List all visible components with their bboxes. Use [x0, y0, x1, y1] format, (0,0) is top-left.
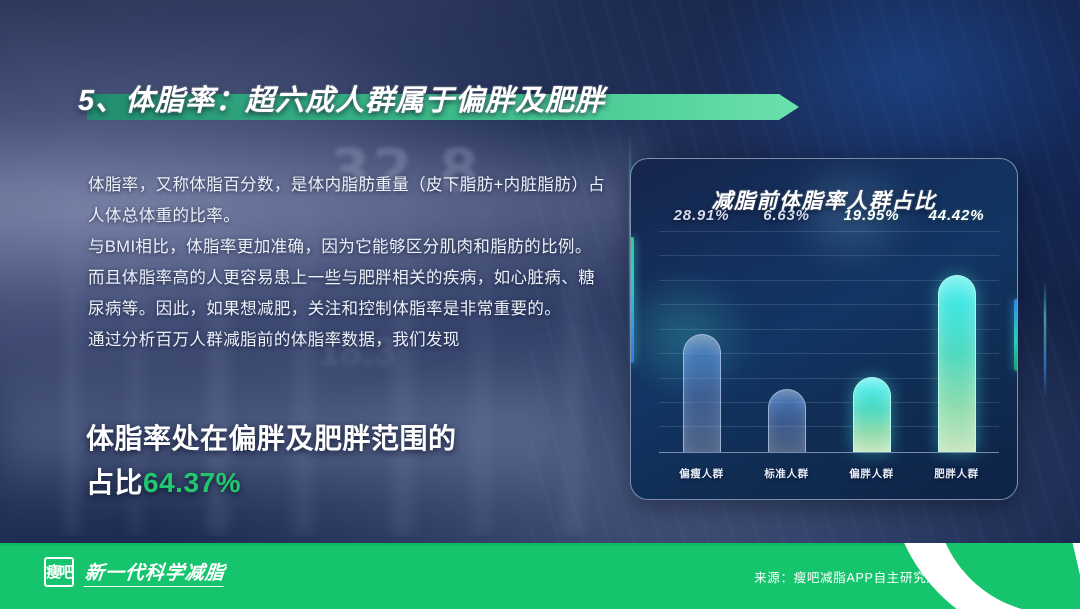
chart-card: 减脂前体脂率人群占比 28.91% 6.63% 19.95%	[630, 158, 1018, 500]
body-paragraph-1: 体脂率，又称体脂百分数，是体内脂肪重量（皮下脂肪+内脏脂肪）占人体总体重的比率。	[88, 170, 608, 232]
chart-category-3: 肥胖人群	[914, 466, 999, 481]
chart-bar-0[interactable]	[683, 334, 721, 452]
page-title: 5、体脂率：超六成人群属于偏胖及肥胖	[78, 72, 605, 124]
chart-category-labels: 偏瘦人群 标准人群 偏胖人群 肥胖人群	[659, 466, 999, 481]
headline-conclusion: 体脂率处在偏胖及肥胖范围的 占比64.37%	[86, 417, 606, 505]
title-text: 5、体脂率：超六成人群属于偏胖及肥胖	[78, 77, 605, 119]
chart-category-2: 偏胖人群	[829, 466, 914, 481]
slide-root: 32.8 18.3 FITNESS 5、体脂率：超六成人群属于偏胖及肥胖 体脂率…	[0, 0, 1080, 609]
chart-category-1: 标准人群	[744, 466, 829, 481]
footer-bar: 瘦吧 新一代科学减脂 来源：瘦吧减脂APP自主研究及绘制	[0, 543, 1080, 609]
chart-bars: 28.91% 6.63% 19.95% 44.42%	[659, 231, 999, 452]
brand-logo-icon: 瘦吧	[44, 557, 74, 587]
chart-bar-group-3: 44.42%	[914, 231, 999, 452]
chart-category-0: 偏瘦人群	[659, 466, 744, 481]
chart-bar-value-2: 19.95%	[844, 207, 900, 224]
chart-x-axis	[659, 452, 999, 453]
body-paragraph-3: 通过分析百万人群减脂前的体脂率数据，我们发现	[88, 325, 608, 356]
chart-bar-group-1: 6.63%	[744, 231, 829, 452]
footer-brand: 瘦吧 新一代科学减脂	[44, 557, 225, 587]
footer-source-text: 来源：瘦吧减脂APP自主研究及绘制	[754, 567, 966, 586]
chart-bar-value-1: 6.63%	[763, 207, 810, 224]
chart-bar-value-3: 44.42%	[929, 207, 985, 224]
chart-bar-2[interactable]	[853, 377, 891, 452]
chart-bar-group-0: 28.91%	[659, 231, 744, 452]
background-accent-line-right	[1044, 280, 1046, 400]
chart-bar-1[interactable]	[768, 389, 806, 452]
chart-accent-left	[630, 237, 634, 363]
headline-lead: 体脂率处在偏胖及肥胖范围的	[86, 423, 457, 454]
headline-value: 64.37%	[143, 467, 241, 498]
chart-accent-right	[1014, 299, 1018, 371]
chart-bar-3[interactable]	[938, 275, 976, 452]
body-copy: 体脂率，又称体脂百分数，是体内脂肪重量（皮下脂肪+内脏脂肪）占人体总体重的比率。…	[88, 170, 608, 356]
brand-slogan: 新一代科学减脂	[83, 558, 226, 587]
chart-bar-group-2: 19.95%	[829, 231, 914, 452]
headline-prefix: 占比	[86, 467, 143, 498]
chart-plot-area: 28.91% 6.63% 19.95% 44.42%	[659, 231, 999, 453]
body-paragraph-2: 与BMI相比，体脂率更加准确，因为它能够区分肌肉和脂肪的比例。而且体脂率高的人更…	[88, 232, 608, 325]
chart-bar-value-0: 28.91%	[674, 207, 730, 224]
